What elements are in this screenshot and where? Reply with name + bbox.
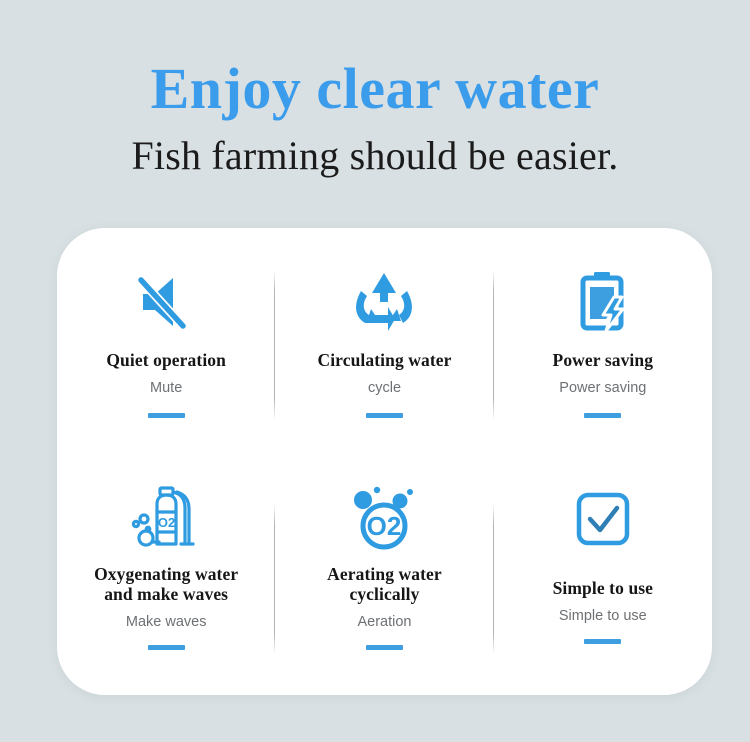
page-title: Enjoy clear water [0, 58, 750, 120]
accent-bar [366, 645, 403, 650]
feature-title: Oxygenating water and make waves [94, 564, 238, 604]
feature-subtitle: Power saving [559, 379, 646, 397]
feature-cell-power-saving[interactable]: Power saving Power saving [494, 228, 712, 462]
accent-bar [366, 413, 403, 418]
feature-cell-simple-to-use[interactable]: Simple to use Simple to use [494, 462, 712, 696]
page-subtitle: Fish farming should be easier. [0, 132, 750, 180]
feature-cell-quiet-operation[interactable]: Quiet operation Mute [57, 228, 275, 462]
feature-title: Power saving [553, 350, 654, 370]
features-card: Quiet operation Mute [57, 228, 712, 695]
feature-cell-circulating-water[interactable]: Circulating water cycle [275, 228, 493, 462]
feature-subtitle: cycle [368, 379, 401, 397]
checkbox-check-icon [572, 484, 634, 554]
mute-speaker-icon [133, 266, 199, 336]
feature-subtitle: Mute [150, 379, 182, 397]
feature-title: Aerating water cyclically [327, 564, 442, 604]
svg-text:O2: O2 [158, 515, 175, 530]
battery-charging-icon [570, 266, 636, 336]
feature-cell-oxygenating-water[interactable]: O2 Oxygenating water and make waves Make… [57, 462, 275, 696]
svg-text:O2: O2 [367, 511, 402, 541]
accent-bar [148, 645, 185, 650]
oxygen-tank-icon: O2 [127, 484, 205, 554]
feature-subtitle: Make waves [126, 613, 207, 631]
accent-bar [148, 413, 185, 418]
accent-bar [584, 639, 621, 644]
o2-bubbles-icon: O2 [344, 484, 424, 554]
feature-subtitle: Aeration [357, 613, 411, 631]
promo-banner: Enjoy clear water Fish farming should be… [0, 0, 750, 742]
feature-title: Circulating water [317, 350, 451, 370]
feature-cell-aerating-water[interactable]: O2 Aerating water cyclically Aeration [275, 462, 493, 696]
feature-subtitle: Simple to use [559, 607, 647, 625]
header: Enjoy clear water Fish farming should be… [0, 58, 750, 180]
features-grid: Quiet operation Mute [57, 228, 712, 695]
feature-title: Quiet operation [106, 350, 226, 370]
recycle-icon [349, 266, 419, 336]
accent-bar [584, 413, 621, 418]
feature-title: Simple to use [553, 578, 653, 598]
